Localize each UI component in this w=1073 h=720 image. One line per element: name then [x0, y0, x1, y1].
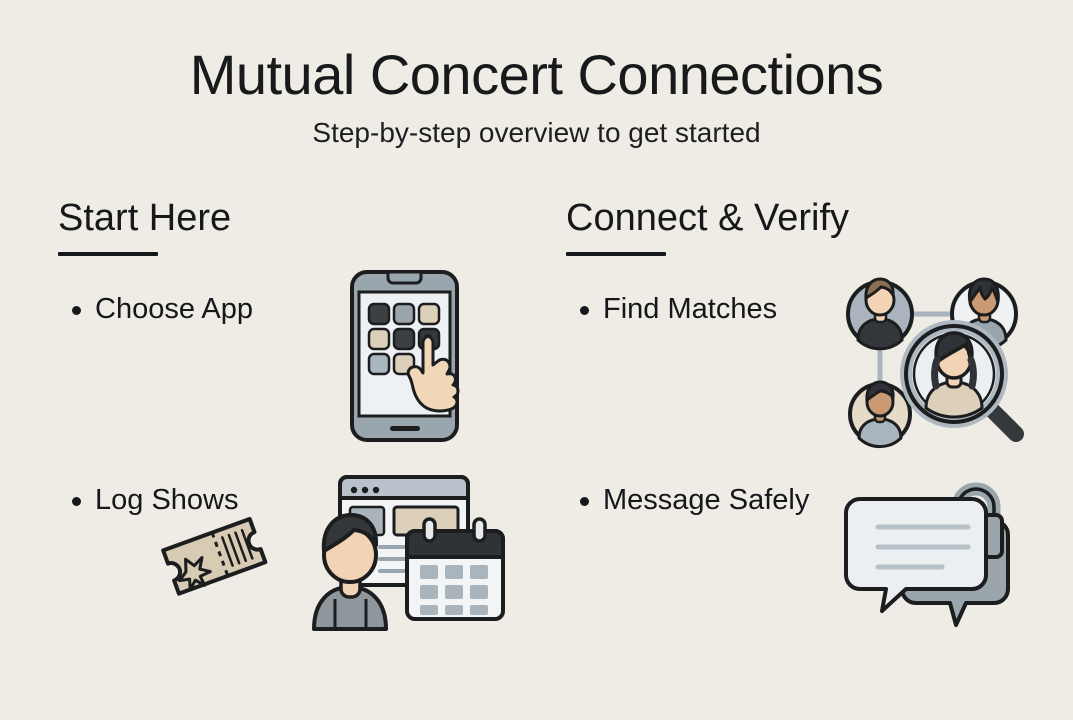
ticket-icon — [156, 511, 276, 611]
ticket-profile-calendar-icon — [302, 463, 512, 633]
bullet-dot — [72, 306, 81, 315]
bullet-dot — [72, 497, 81, 506]
bullet-find-matches: Find Matches — [580, 292, 777, 326]
section-rule — [566, 252, 666, 256]
header: Mutual Concert Connections Step-by-step … — [0, 42, 1073, 152]
people-network-magnifier-icon — [844, 264, 1034, 444]
infographic-slide: Mutual Concert Connections Step-by-step … — [0, 0, 1073, 720]
list-item: Find Matches — [566, 280, 1036, 460]
section-heading-start-here: Start Here — [58, 196, 528, 240]
page-title: Mutual Concert Connections — [0, 42, 1073, 108]
bullet-label: Find Matches — [603, 292, 777, 326]
section-rule — [58, 252, 158, 256]
bullet-dot — [580, 497, 589, 506]
column-connect-verify: Connect & Verify Find Matches — [566, 196, 1036, 256]
list-item: Log Shows — [58, 471, 528, 651]
bullet-choose-app: Choose App — [72, 292, 253, 326]
bullet-dot — [580, 306, 589, 315]
smartphone-app-grid-tap-icon — [336, 266, 486, 446]
column-start-here: Start Here Choose App — [58, 196, 528, 256]
chat-bubbles-lock-icon — [842, 477, 1022, 637]
bullet-message-safely: Message Safely — [580, 483, 809, 517]
avatar — [848, 279, 912, 349]
avatar — [850, 382, 910, 447]
calendar — [407, 519, 503, 619]
list-item: Message Safely — [566, 471, 1036, 651]
section-heading-connect-verify: Connect & Verify — [566, 196, 1036, 240]
list-item: Choose App — [58, 280, 528, 460]
bullet-label: Message Safely — [603, 483, 809, 517]
page-subtitle: Step-by-step overview to get started — [0, 114, 1073, 152]
bullet-label: Choose App — [95, 292, 253, 326]
